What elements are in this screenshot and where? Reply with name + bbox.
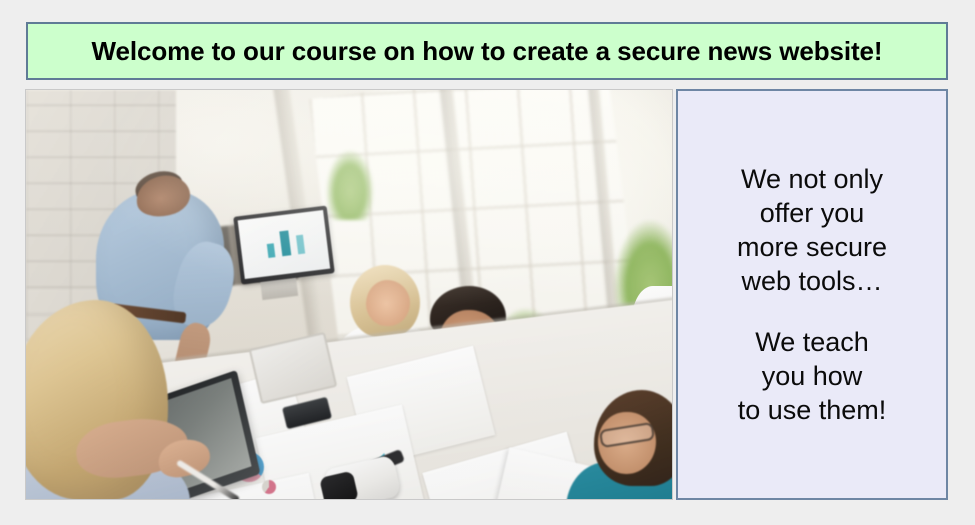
chart-bar-icon [267,243,276,258]
monitor-icon [233,206,335,285]
plant-icon [326,150,374,220]
side-text-panel: We not only offer you more secure web to… [676,89,948,500]
pie-chart-icon [262,480,276,494]
photo-stage [26,90,672,499]
side-panel-paragraph-2: We teach you how to use them! [738,325,887,428]
monitor-screen [238,210,331,279]
face [366,280,410,326]
header-banner: Welcome to our course on how to create a… [26,22,948,80]
meeting-photo [25,89,673,500]
page-title: Welcome to our course on how to create a… [92,36,883,67]
arm [104,499,219,500]
chart-bar-icon [279,230,291,256]
chart-bar-icon [296,235,305,255]
side-panel-paragraph-1: We not only offer you more secure web to… [737,162,887,299]
slide-canvas: Welcome to our course on how to create a… [0,0,975,525]
